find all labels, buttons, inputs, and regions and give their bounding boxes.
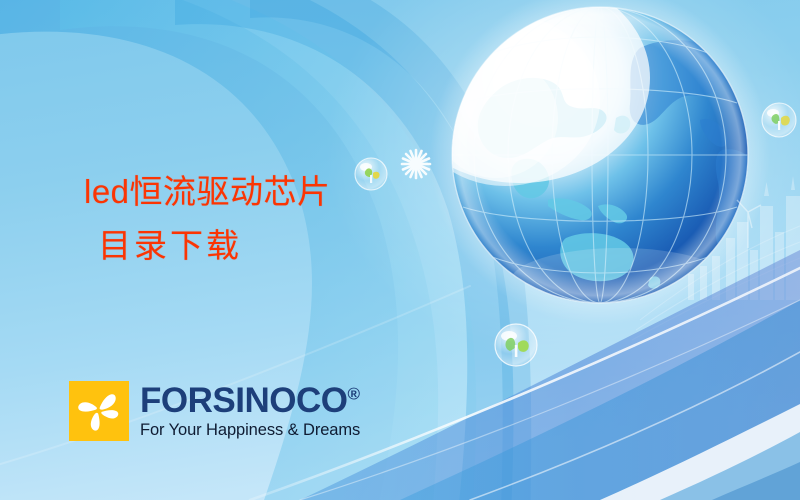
banner-canvas: led恒流驱动芯片 目录下载 FORSINOCO® For Your Happi… [0,0,800,500]
headline-line-2: 目录下载 [84,219,444,273]
brand-name-text: FORSINOCO [140,381,347,420]
registered-trademark-icon: ® [347,385,360,404]
logo-wordmark: FORSINOCO® For Your Happiness & Dreams [140,383,360,439]
brand-name: FORSINOCO® [140,383,360,418]
company-logo[interactable]: FORSINOCO® For Your Happiness & Dreams [69,381,360,441]
brand-tagline: For Your Happiness & Dreams [140,422,360,439]
bubble-sprout [762,103,796,137]
bubble-leaf [495,324,537,366]
forsinoco-pinwheel-icon [69,381,129,441]
headline-line-1: led恒流驱动芯片 [84,173,331,210]
promo-headline: led恒流驱动芯片 目录下载 [84,165,444,273]
